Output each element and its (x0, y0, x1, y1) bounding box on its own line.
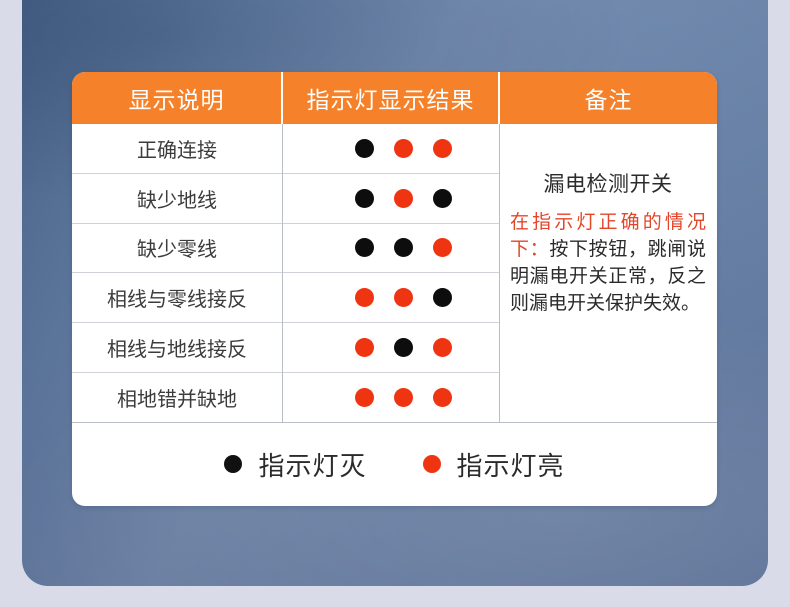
indicator-light-off (355, 139, 374, 158)
table-row: 相线与地线接反 (72, 323, 282, 373)
indicator-light-on (433, 338, 452, 357)
wiring-status-card: 显示说明 指示灯显示结果 备注 正确连接 缺少地线 缺少零线 相线与零线接反 相… (72, 72, 717, 506)
table-body: 正确连接 缺少地线 缺少零线 相线与零线接反 相线与地线接反 相地错并缺地 漏电… (72, 124, 717, 423)
indicator-light-on (394, 388, 413, 407)
indicator-light-off (394, 238, 413, 257)
indicator-light-on (394, 288, 413, 307)
indicator-light-off (433, 288, 452, 307)
indicator-light-off (355, 238, 374, 257)
legend-dot-on (423, 455, 441, 473)
legend-label: 指示灯灭 (258, 446, 366, 483)
remark-column: 漏电检测开关 在指示灯正确的情况下：按下按钮，跳闸说明漏电开关正常，反之则漏电开… (500, 124, 716, 422)
indicator-light-off (433, 189, 452, 208)
column-header-lights: 指示灯显示结果 (283, 72, 500, 124)
indicator-light-off (355, 189, 374, 208)
legend-dot-off (224, 455, 242, 473)
column-header-description: 显示说明 (72, 72, 283, 124)
indicator-light-on (394, 189, 413, 208)
table-header-row: 显示说明 指示灯显示结果 备注 (72, 72, 717, 124)
indicator-light-on (394, 139, 413, 158)
indicator-light-group (283, 224, 499, 274)
indicator-light-on (433, 388, 452, 407)
table-row: 相线与零线接反 (72, 273, 282, 323)
table-row: 缺少零线 (72, 224, 282, 274)
description-column: 正确连接 缺少地线 缺少零线 相线与零线接反 相线与地线接反 相地错并缺地 (72, 124, 283, 422)
indicator-light-group (283, 373, 499, 423)
legend-item: 指示灯亮 (423, 446, 565, 483)
remark-body: 在指示灯正确的情况下：按下按钮，跳闸说明漏电开关正常，反之则漏电开关保护失效。 (508, 210, 708, 318)
indicator-lights-column (283, 124, 500, 422)
indicator-light-group (283, 273, 499, 323)
legend-label: 指示灯亮 (457, 446, 565, 483)
indicator-light-group (283, 124, 499, 174)
indicator-light-group (283, 323, 499, 373)
table-row: 缺少地线 (72, 174, 282, 224)
indicator-light-on (355, 388, 374, 407)
legend-row: 指示灯灭指示灯亮 (72, 423, 717, 505)
indicator-light-off (394, 338, 413, 357)
indicator-light-on (355, 288, 374, 307)
table-row: 相地错并缺地 (72, 373, 282, 423)
column-header-remark: 备注 (500, 72, 717, 124)
table-row: 正确连接 (72, 124, 282, 174)
screenshot-stage: 显示说明 指示灯显示结果 备注 正确连接 缺少地线 缺少零线 相线与零线接反 相… (0, 0, 790, 607)
indicator-light-on (355, 338, 374, 357)
indicator-light-group (283, 174, 499, 224)
indicator-light-on (433, 139, 452, 158)
legend-item: 指示灯灭 (224, 446, 366, 483)
remark-content: 漏电检测开关 在指示灯正确的情况下：按下按钮，跳闸说明漏电开关正常，反之则漏电开… (508, 124, 708, 318)
remark-title: 漏电检测开关 (508, 168, 708, 198)
indicator-light-on (433, 238, 452, 257)
